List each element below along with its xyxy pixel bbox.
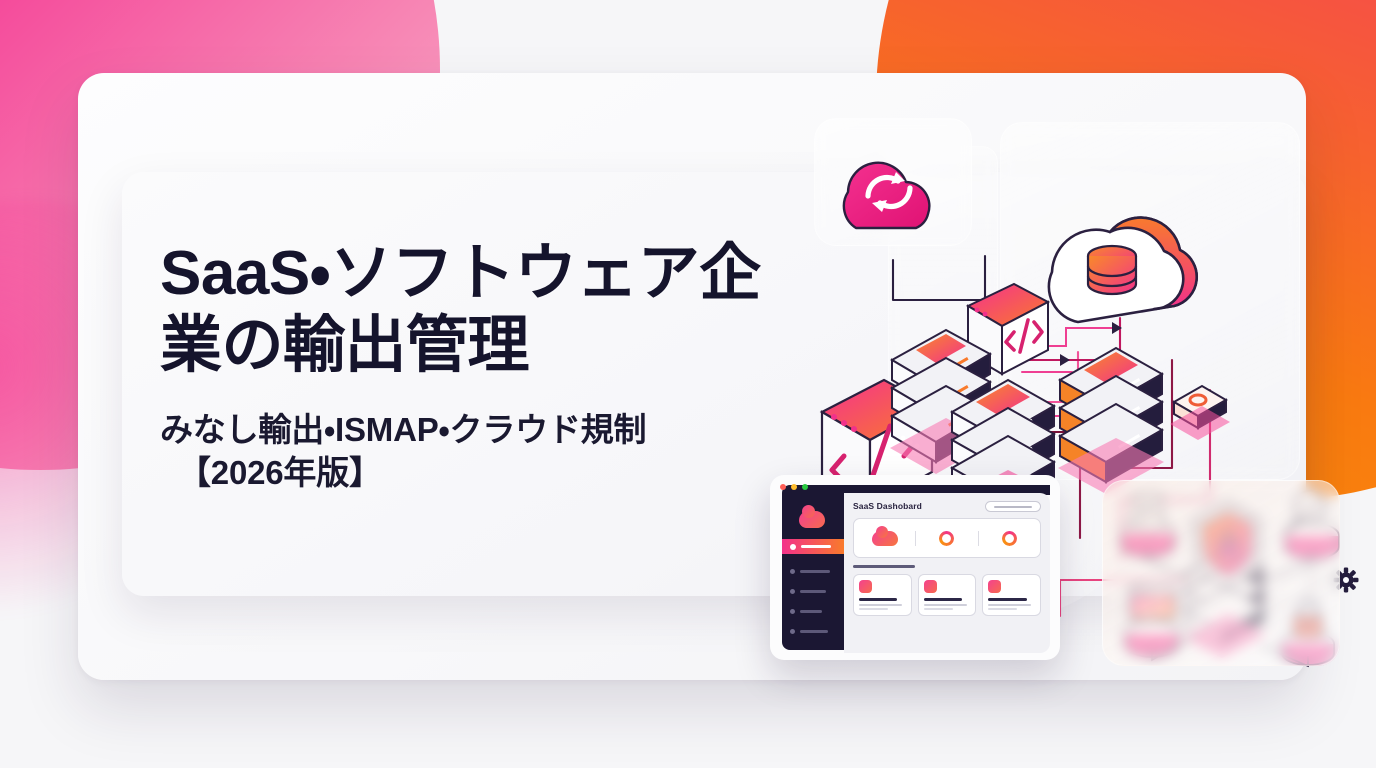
card-title-placeholder — [859, 598, 897, 601]
sidebar-item-active[interactable] — [782, 539, 844, 554]
stat-cloud[interactable] — [854, 531, 915, 546]
nav-bullet-icon — [790, 569, 795, 574]
section-divider — [853, 565, 915, 568]
headline-line-2: 業の輸出管理 — [160, 310, 880, 382]
nav-label-placeholder — [800, 570, 830, 573]
headline-line-1: SaaS・ソフトウェア企 — [160, 239, 761, 308]
card-text-placeholder — [859, 608, 888, 610]
page-subtitle: みなし輸出・ISMAP・クラウド規制 【2026年版】 — [160, 408, 880, 495]
nav-bullet-icon — [790, 589, 795, 594]
nav-label-placeholder — [800, 630, 828, 633]
sidebar-item-3[interactable] — [790, 609, 822, 614]
card-title-placeholder — [988, 598, 1026, 601]
dashboard-card-2[interactable] — [918, 574, 977, 616]
page-title: SaaS・ソフトウェア企 業の輸出管理 — [160, 238, 880, 382]
donut-chart-icon — [939, 531, 954, 546]
nav-label-placeholder — [800, 610, 822, 613]
image-icon — [988, 580, 1001, 593]
card-text-placeholder — [988, 604, 1031, 606]
cloud-icon — [872, 531, 898, 546]
nav-label-placeholder — [800, 590, 826, 593]
server-rack-right — [1058, 348, 1164, 494]
card-title-placeholder — [924, 598, 962, 601]
dashboard-main-panel: SaaS Dashobard — [844, 493, 1050, 653]
nav-bullet-icon — [790, 609, 795, 614]
dashboard-card-3[interactable] — [982, 574, 1041, 616]
dashboard-search-pill[interactable] — [985, 501, 1041, 512]
card-text-placeholder — [988, 608, 1017, 610]
donut-chart-icon — [1002, 531, 1017, 546]
card-text-placeholder — [924, 604, 967, 606]
dashboard-card-row — [853, 574, 1041, 616]
nav-bullet-icon — [790, 544, 796, 550]
subtitle-line-1: みなし輸出・ISMAP・クラウド規制 — [160, 411, 646, 448]
sidebar-item-4[interactable] — [790, 629, 828, 634]
hero-text-block: SaaS・ソフトウェア企 業の輸出管理 みなし輸出・ISMAP・クラウド規制 【… — [160, 238, 880, 495]
stat-donut-2[interactable] — [978, 531, 1040, 546]
nav-bullet-icon — [790, 629, 795, 634]
dashboard-sidebar — [782, 485, 844, 650]
card-text-placeholder — [859, 604, 902, 606]
globe-icon — [924, 580, 937, 593]
user-network-icon — [859, 580, 872, 593]
nav-label-placeholder — [801, 545, 831, 548]
sidebar-item-2[interactable] — [790, 589, 826, 594]
sidebar-item-1[interactable] — [790, 569, 830, 574]
card-text-placeholder — [924, 608, 953, 610]
hero-banner-stage: SaaS・ソフトウェア企 業の輸出管理 みなし輸出・ISMAP・クラウド規制 【… — [0, 0, 1376, 768]
dashboard-cloud-logo-icon — [799, 511, 825, 528]
cloud-database-icon — [1049, 218, 1197, 322]
cloud-sync-icon — [844, 163, 929, 228]
dashboard-card-1[interactable] — [853, 574, 912, 616]
chip-module-icon — [1170, 386, 1230, 440]
subtitle-line-2: 【2026年版】 — [160, 451, 880, 495]
dashboard-stats-row — [853, 518, 1041, 558]
glass-panel-security — [1102, 480, 1340, 666]
stat-donut-1[interactable] — [915, 531, 977, 546]
dashboard-mockup: SaaS Dashobard — [770, 475, 1060, 660]
